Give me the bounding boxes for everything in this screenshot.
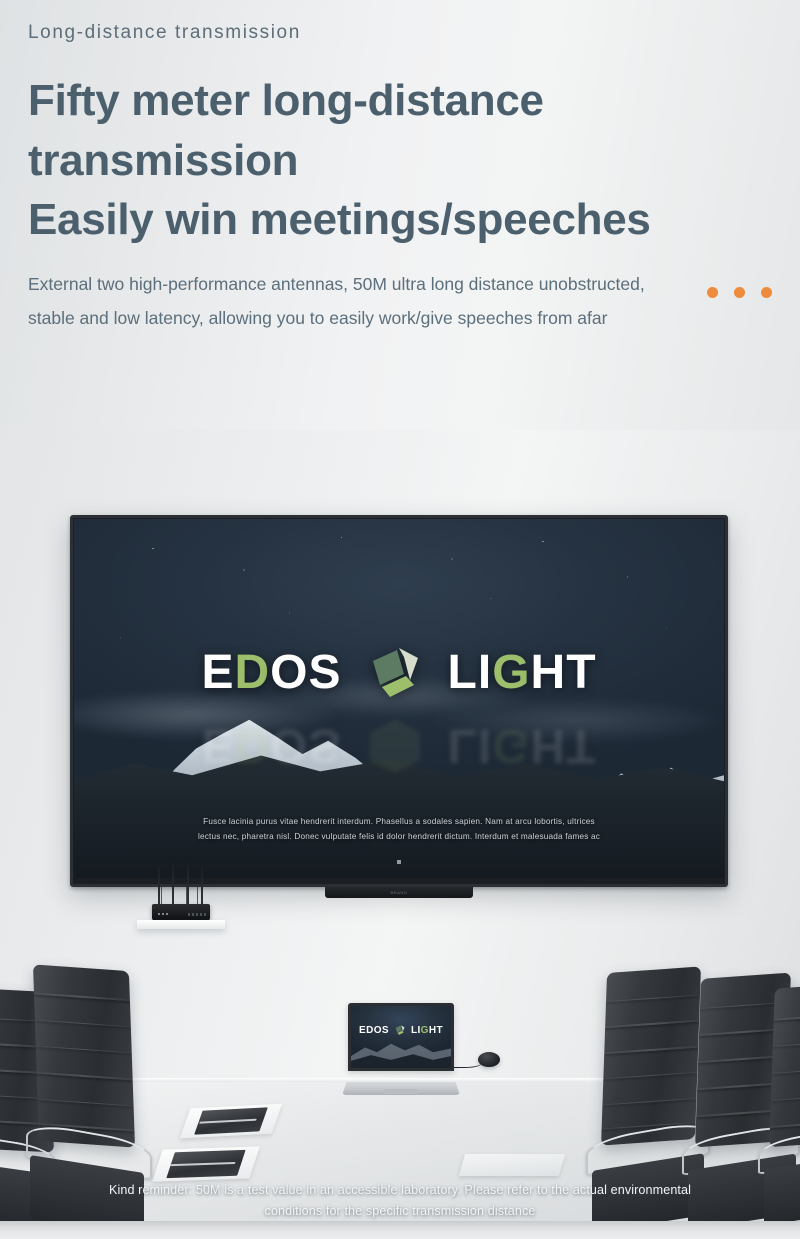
tv-logo-reflection: EDOS LIGHT: [74, 715, 724, 777]
laptop-brand-logo: EDOS LIGHT: [351, 1024, 451, 1036]
reflection-cube-icon: [364, 715, 426, 777]
laptop-cube-icon: [394, 1024, 406, 1036]
laptop-screen: EDOS LIGHT: [351, 1006, 451, 1068]
logo-letter-g: G: [492, 646, 530, 699]
wireless-router: [152, 893, 210, 921]
router-body: [152, 904, 210, 921]
television: EDOS LIGHT EDOS: [70, 515, 728, 887]
logo-letter-d: D: [235, 646, 271, 699]
laptop: EDOS LIGHT: [342, 1003, 460, 1095]
notepad-1: [180, 1104, 282, 1139]
laptop-logo-light: LIGHT: [411, 1025, 443, 1036]
headline-line-1: Fifty meter long-distance: [28, 71, 788, 131]
dot-icon-1: [707, 287, 718, 298]
logo-letters-os: OS: [270, 646, 341, 699]
headline-line-2: transmission: [28, 131, 788, 191]
conference-room-scene: EDOS LIGHT EDOS: [0, 430, 800, 1239]
product-feature-page: Long-distance transmission Fifty meter l…: [0, 0, 800, 1239]
logo-letters-ht: HT: [531, 646, 597, 699]
tv-brand-logo: EDOS LIGHT: [74, 641, 724, 703]
dot-icon-2: [734, 287, 745, 298]
dot-icon-3: [761, 287, 772, 298]
cube-logo-icon: [364, 641, 426, 703]
headline-line-3: Easily win meetings/speeches: [28, 190, 788, 250]
tv-caption-text: Fusce lacinia purus vitae hendrerit inte…: [74, 814, 724, 844]
logo-letter-e: E: [201, 646, 234, 699]
disclaimer-text: Kind reminder: 50M is a test value in an…: [0, 1180, 800, 1221]
hero-copy-block: Long-distance transmission Fifty meter l…: [28, 22, 768, 335]
tv-power-led-icon: [397, 860, 401, 864]
decorative-dots: [707, 287, 772, 298]
tv-screen: EDOS LIGHT EDOS: [74, 519, 724, 878]
laptop-base: [342, 1082, 460, 1095]
logo-letters-li: LI: [448, 646, 493, 699]
tv-brand-label: BRAND: [325, 887, 473, 898]
logo-word-light: LIGHT: [448, 645, 597, 700]
bottom-strip: [0, 1221, 800, 1239]
laptop-lid: EDOS LIGHT: [348, 1003, 454, 1071]
computer-mouse: [478, 1052, 500, 1067]
reflection-word-1: EDOS: [201, 719, 341, 774]
eyebrow-label: Long-distance transmission: [28, 22, 768, 45]
notepad-3: [459, 1154, 565, 1176]
page-title: Fifty meter long-distance transmission E…: [28, 71, 788, 250]
wall-shelf: [137, 920, 225, 929]
hero-description: External two high-performance antennas, …: [28, 268, 653, 335]
reflection-word-2: LIGHT: [448, 719, 597, 774]
logo-word-edos: EDOS: [201, 645, 341, 700]
laptop-trackpad: [384, 1089, 418, 1094]
laptop-screen-mountains: [351, 1039, 451, 1068]
laptop-logo-edos: EDOS: [359, 1025, 389, 1036]
